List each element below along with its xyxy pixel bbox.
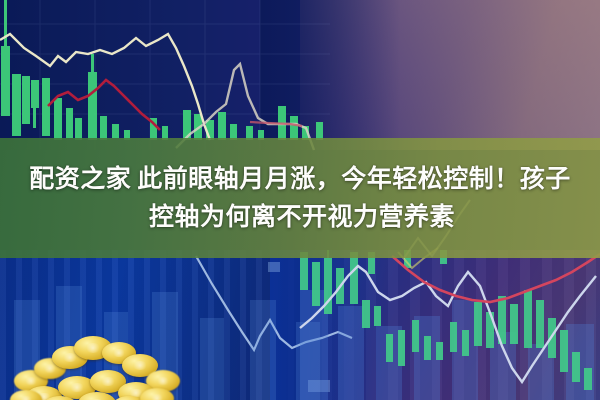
headline-line-2: 控轴为何离不开视力营养素 [149, 201, 455, 233]
candles-top-left [1, 0, 323, 140]
gold-coin-pile [8, 330, 198, 400]
headline-line-1-text: 此前眼轴月月涨，今年轻松控制！孩子 [137, 165, 571, 193]
trend-line-red-bottom [392, 254, 600, 302]
banner-image: 配资之家此前眼轴月月涨，今年轻松控制！孩子 控轴为何离不开视力营养素 [0, 0, 600, 400]
brand-label: 配资之家 [29, 165, 131, 193]
headline-band: 配资之家此前眼轴月月涨，今年轻松控制！孩子 控轴为何离不开视力营养素 [0, 138, 600, 258]
headline-line-1: 配资之家此前眼轴月月涨，今年轻松控制！孩子 [29, 163, 571, 195]
